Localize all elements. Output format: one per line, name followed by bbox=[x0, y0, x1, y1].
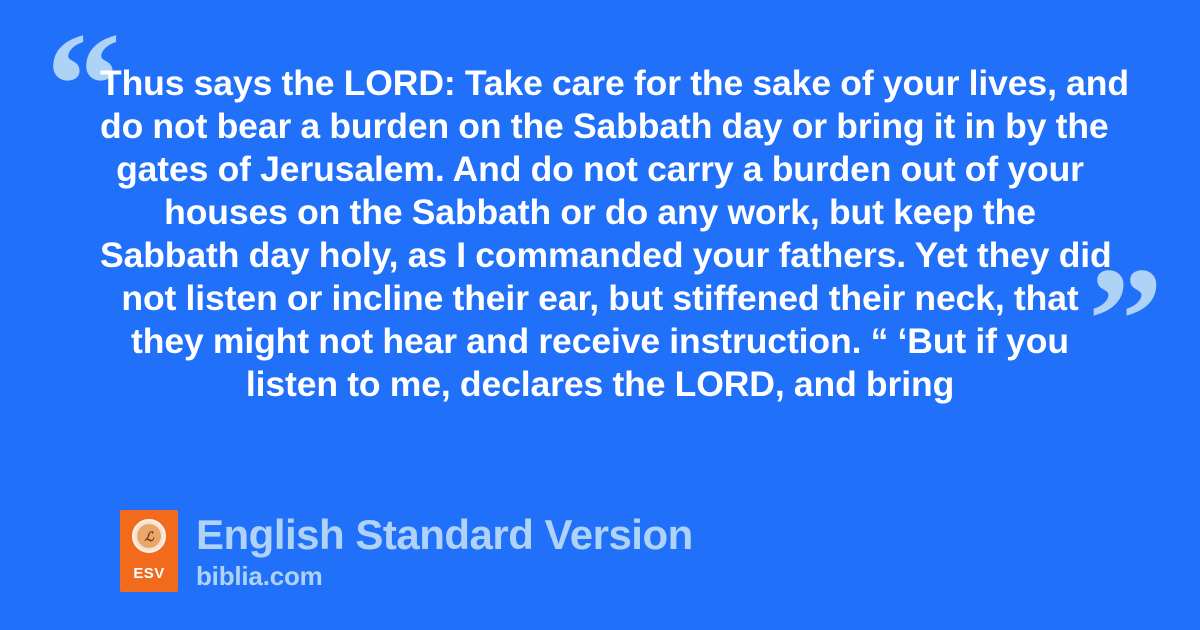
verse-line: gates of Jerusalem. And do not carry a b… bbox=[100, 148, 1100, 191]
closing-quote-icon: ” bbox=[1088, 245, 1161, 395]
verse-line: do not bear a burden on the Sabbath day … bbox=[100, 105, 1100, 148]
attribution: ℒ ESV English Standard Version biblia.co… bbox=[120, 510, 693, 592]
verse-line: they might not hear and receive instruct… bbox=[100, 320, 1100, 363]
verse-quote-text: Thus says the LORD: Take care for the sa… bbox=[100, 62, 1100, 406]
bible-version-name: English Standard Version bbox=[196, 512, 693, 558]
attribution-text: English Standard Version biblia.com bbox=[196, 510, 693, 591]
site-url[interactable]: biblia.com bbox=[196, 561, 693, 591]
esv-logo: ℒ ESV bbox=[120, 510, 178, 592]
esv-logo-label: ESV bbox=[133, 566, 164, 581]
verse-line: Sabbath day holy, as I commanded your fa… bbox=[100, 234, 1100, 277]
verse-line: listen to me, declares the LORD, and bri… bbox=[100, 363, 1100, 406]
verse-line: Thus says the LORD: Take care for the sa… bbox=[100, 62, 1100, 105]
verse-image-card: “ Thus says the LORD: Take care for the … bbox=[0, 0, 1200, 630]
esv-seal-monogram: ℒ bbox=[137, 524, 161, 548]
verse-line: houses on the Sabbath or do any work, bu… bbox=[100, 191, 1100, 234]
verse-line: not listen or incline their ear, but sti… bbox=[100, 277, 1100, 320]
esv-seal-icon: ℒ bbox=[132, 519, 166, 553]
